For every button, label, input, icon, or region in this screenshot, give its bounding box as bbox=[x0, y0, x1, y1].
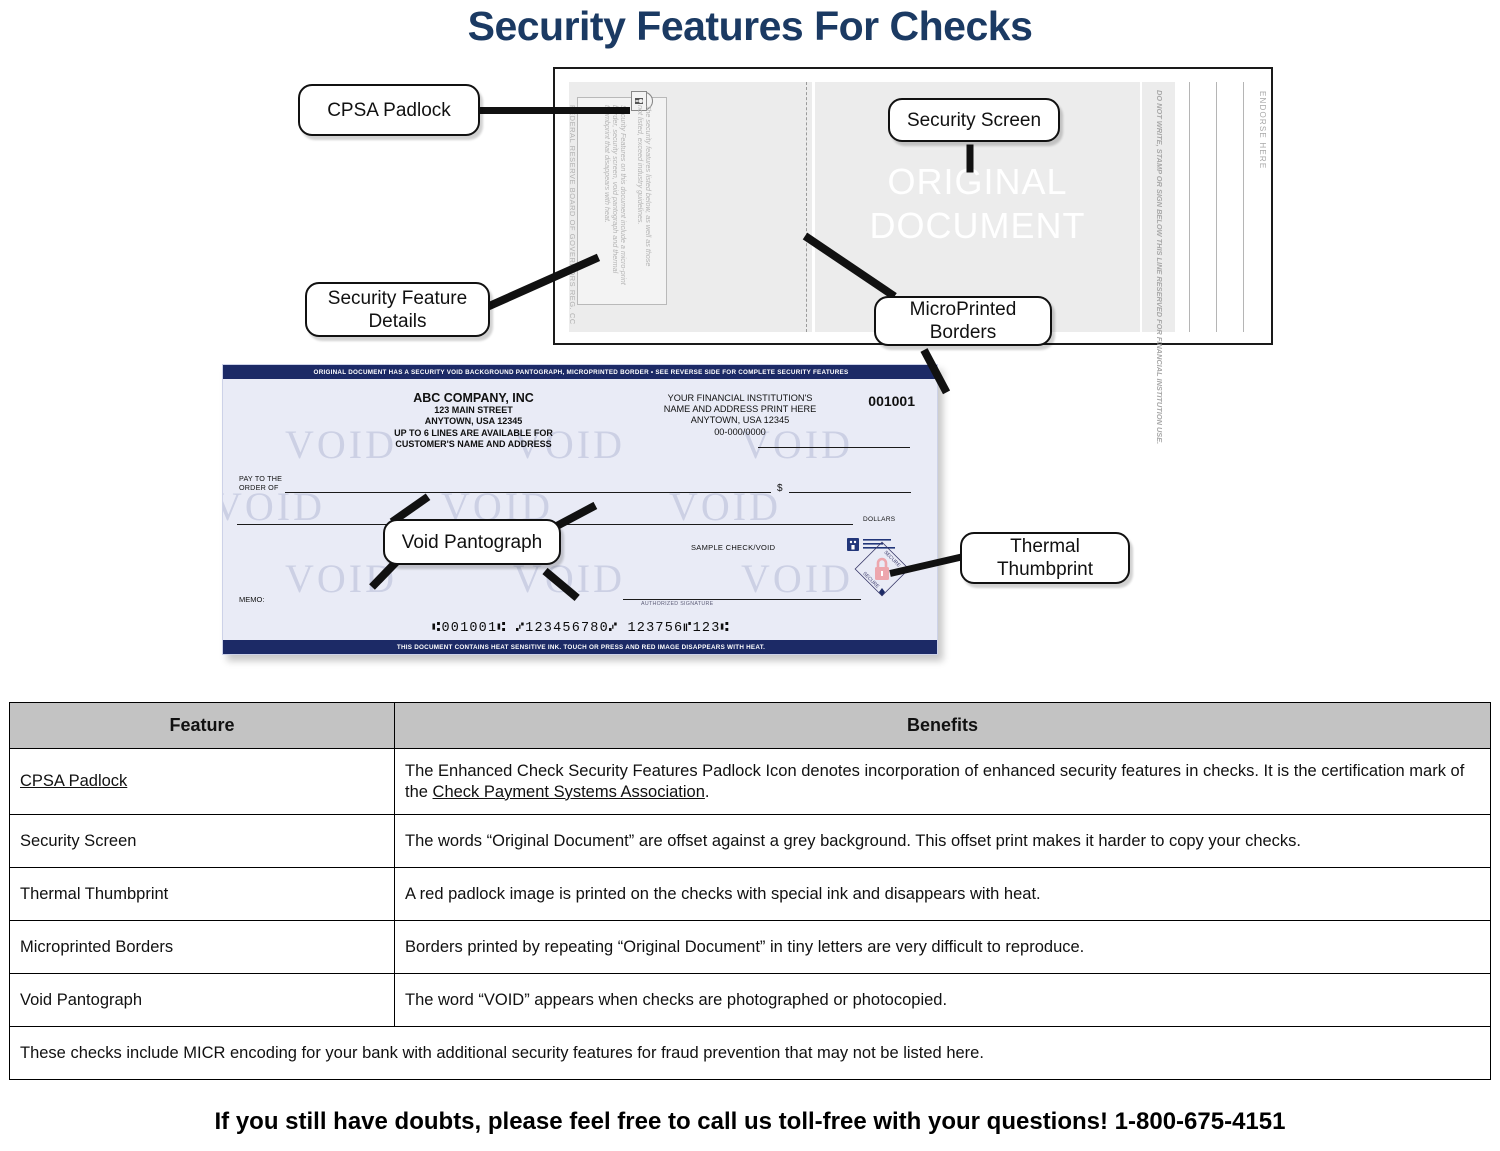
feature-link[interactable]: CPSA Padlock bbox=[20, 772, 127, 790]
pay-to-line-2: ORDER OF bbox=[239, 483, 282, 492]
benefit-cell: The word “VOID” appears when checks are … bbox=[395, 974, 1491, 1027]
table-footer-row: These checks include MICR encoding for y… bbox=[10, 1027, 1491, 1080]
amount-box-line bbox=[789, 492, 911, 493]
callout-security-feature-details[interactable]: Security Feature Details bbox=[305, 282, 490, 337]
check-back-detail-line-4: border, security screen, void pantograph… bbox=[611, 105, 620, 273]
callout-thermal-thumbprint[interactable]: Thermal Thumbprint bbox=[960, 532, 1130, 584]
void-watermark: VOID bbox=[669, 483, 781, 530]
security-screen-line-2: DOCUMENT bbox=[815, 204, 1140, 248]
company-note-1: UP TO 6 LINES ARE AVAILABLE FOR bbox=[341, 428, 606, 440]
benefit-cell: The words “Original Document” are offset… bbox=[395, 815, 1491, 868]
features-benefits-table: Feature Benefits CPSA PadlockThe Enhance… bbox=[9, 702, 1491, 1080]
callout-microprinted-borders[interactable]: MicroPrinted Borders bbox=[874, 296, 1052, 346]
bank-line-1: YOUR FINANCIAL INSTITUTION'S bbox=[615, 393, 865, 404]
benefit-cell: A red padlock image is printed on the ch… bbox=[395, 868, 1491, 921]
callout-security-screen[interactable]: Security Screen bbox=[888, 98, 1060, 142]
company-city: ANYTOWN, USA 12345 bbox=[341, 416, 606, 428]
benefit-cell: The Enhanced Check Security Features Pad… bbox=[395, 749, 1491, 815]
dollars-label: DOLLARS bbox=[863, 516, 895, 523]
security-screen-line-1: ORIGINAL bbox=[815, 160, 1140, 204]
date-line bbox=[758, 447, 910, 448]
check-back-detail-line-5: thumbprint that disappears with heat. bbox=[603, 105, 612, 223]
callout-cpsa-padlock[interactable]: CPSA Padlock bbox=[298, 84, 480, 136]
check-back-detail-line-2: not listed, exceed industry guidelines. bbox=[636, 105, 645, 224]
table-row: Microprinted BordersBorders printed by r… bbox=[10, 921, 1491, 974]
endorse-here-label: ENDORSE HERE bbox=[1258, 91, 1267, 169]
table-row: CPSA PadlockThe Enhanced Check Security … bbox=[10, 749, 1491, 815]
table-row: Security ScreenThe words “Original Docum… bbox=[10, 815, 1491, 868]
endorsement-line-1 bbox=[1189, 82, 1190, 332]
table-body: CPSA PadlockThe Enhanced Check Security … bbox=[10, 749, 1491, 1080]
feature-cell: Thermal Thumbprint bbox=[10, 868, 395, 921]
table-header-row: Feature Benefits bbox=[10, 703, 1491, 749]
pay-to-the-order-of-label: PAY TO THE ORDER OF bbox=[239, 474, 282, 492]
financial-institution-band: DO NOT WRITE, STAMP OR SIGN BELOW THIS L… bbox=[1142, 82, 1175, 332]
feature-cell: Security Screen bbox=[10, 815, 395, 868]
federal-reserve-notice: FEDERAL RESERVE BOARD OF GOVERNORS REG. … bbox=[568, 105, 577, 325]
endorsement-line-2 bbox=[1216, 82, 1217, 332]
memo-label: MEMO: bbox=[239, 595, 264, 604]
signature-line bbox=[623, 599, 861, 600]
callout-void-pantograph[interactable]: Void Pantograph bbox=[383, 519, 561, 565]
table-row: Thermal ThumbprintA red padlock image is… bbox=[10, 868, 1491, 921]
check-back-detail-line-3: Security Features on this document inclu… bbox=[619, 105, 628, 285]
feature-cell: Void Pantograph bbox=[10, 974, 395, 1027]
company-note-2: CUSTOMER'S NAME AND ADDRESS bbox=[341, 439, 606, 451]
benefit-cell: Borders printed by repeating “Original D… bbox=[395, 921, 1491, 974]
company-name: ABC COMPANY, INC bbox=[341, 393, 606, 405]
bank-line-2: NAME AND ADDRESS PRINT HERE bbox=[615, 404, 865, 415]
bank-line-3: ANYTOWN, USA 12345 bbox=[615, 415, 865, 426]
void-watermark: VOID bbox=[741, 555, 853, 602]
table-footer-note: These checks include MICR encoding for y… bbox=[10, 1027, 1491, 1080]
micr-line: ⑆00⁠1001⑆ ⑇123456780⑇ 123756⑈123⑆ bbox=[223, 620, 938, 636]
benefit-text: . bbox=[705, 783, 710, 801]
check-bottom-security-band: THIS DOCUMENT CONTAINS HEAT SENSITIVE IN… bbox=[223, 640, 938, 654]
dollar-sign: $ bbox=[777, 483, 783, 494]
check-diagram: The security features listed below, as w… bbox=[0, 0, 1500, 690]
feature-cell: Microprinted Borders bbox=[10, 921, 395, 974]
company-street: 123 MAIN STREET bbox=[341, 405, 606, 417]
column-header-feature: Feature bbox=[10, 703, 395, 749]
check-bank-block: YOUR FINANCIAL INSTITUTION'S NAME AND AD… bbox=[615, 393, 865, 438]
check-company-block: ABC COMPANY, INC 123 MAIN STREET ANYTOWN… bbox=[341, 393, 606, 451]
bank-routing-fraction: 00-000/0000 bbox=[615, 427, 865, 438]
table-row: Void PantographThe word “VOID” appears w… bbox=[10, 974, 1491, 1027]
benefit-link[interactable]: Check Payment Systems Association bbox=[433, 783, 705, 801]
check-back-detail-line-1: The security features listed below, as w… bbox=[644, 105, 653, 266]
footer-call-to-action: If you still have doubts, please feel fr… bbox=[0, 1108, 1500, 1136]
feature-cell: CPSA Padlock bbox=[10, 749, 395, 815]
authorized-signature-label: AUTHORIZED SIGNATURE bbox=[641, 601, 713, 607]
endorsement-line-3 bbox=[1243, 82, 1244, 332]
column-header-benefits: Benefits bbox=[395, 703, 1491, 749]
sample-check-void-text: SAMPLE CHECK/VOID bbox=[691, 543, 775, 552]
check-number: 001001 bbox=[868, 393, 915, 409]
pay-to-line-1: PAY TO THE bbox=[239, 474, 282, 483]
microprint-dashed-border bbox=[806, 82, 807, 332]
check-top-security-band: ORIGINAL DOCUMENT HAS A SECURITY VOID BA… bbox=[223, 365, 938, 379]
do-not-write-notice: DO NOT WRITE, STAMP OR SIGN BELOW THIS L… bbox=[1155, 90, 1164, 444]
security-screen-words: ORIGINAL DOCUMENT bbox=[815, 160, 1140, 248]
payee-line bbox=[285, 492, 771, 493]
leader-cpsa bbox=[478, 107, 630, 114]
leader-screen bbox=[967, 145, 974, 173]
